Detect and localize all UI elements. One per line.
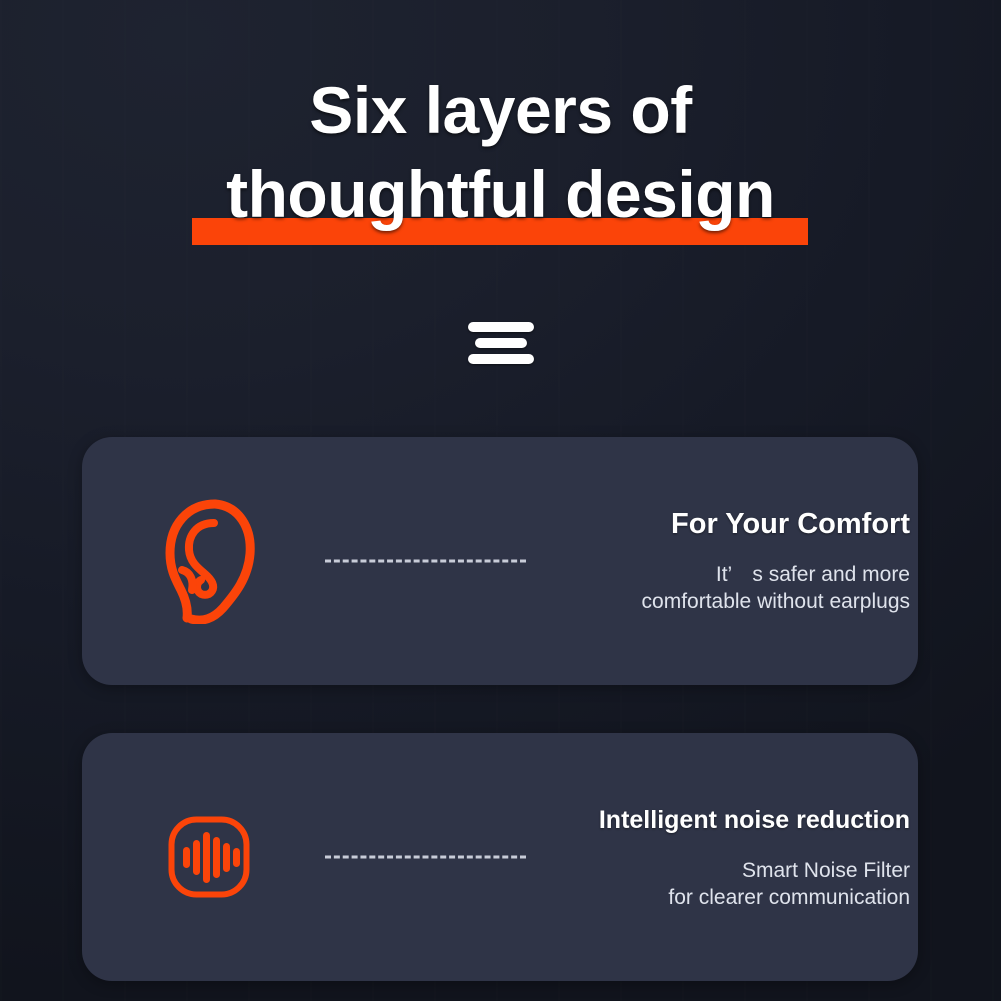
feature-card-text: Intelligent noise reduction Smart Noise … [440,803,910,911]
sound-wave-icon [154,792,264,922]
card-title: For Your Comfort [440,507,910,541]
card-title: Intelligent noise reduction [440,803,910,837]
card-description-line-2: comfortable without earplugs [440,588,910,615]
menu-bar-middle [475,338,527,348]
feature-card-comfort[interactable]: For Your Comfort It’ s safer and more co… [82,437,918,685]
card-description-line-1: It’ s safer and more [440,561,910,588]
card-description-line-2: for clearer communication [440,884,910,911]
menu-bar-top [468,322,534,332]
promo-page: Six layers of thoughtful design [0,0,1001,1001]
hamburger-menu-icon[interactable] [466,322,536,366]
card-description: It’ s safer and more comfortable without… [440,561,910,615]
feature-card-noise-reduction[interactable]: Intelligent noise reduction Smart Noise … [82,733,918,981]
page-title: Six layers of thoughtful design [0,68,1001,236]
card-description: Smart Noise Filter for clearer communica… [440,857,910,911]
card-description-line-1: Smart Noise Filter [440,857,910,884]
feature-card-text: For Your Comfort It’ s safer and more co… [440,507,910,615]
menu-bar-bottom [468,354,534,364]
headline-line-1: Six layers of [0,68,1001,152]
ear-icon [154,496,264,626]
headline-line-2: thoughtful design [0,152,1001,236]
